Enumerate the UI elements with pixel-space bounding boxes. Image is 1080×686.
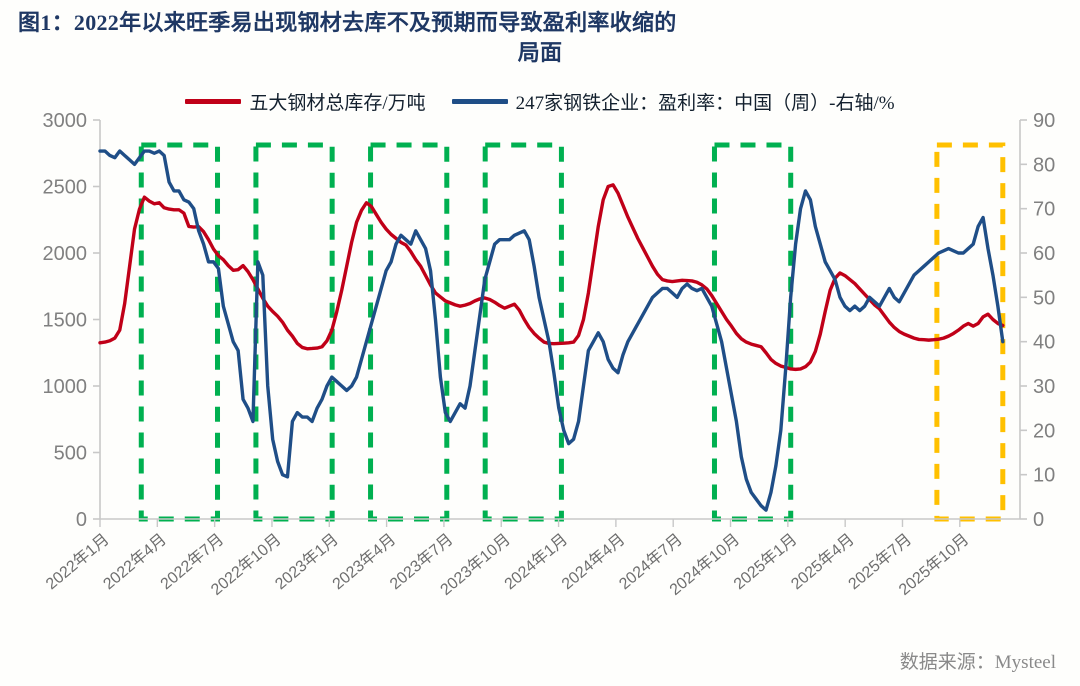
y-axis-left-tick-label: 2500 bbox=[43, 177, 88, 199]
y-axis-right-tick-label: 50 bbox=[1033, 287, 1055, 309]
x-axis-tick-label: 2025年1月 bbox=[730, 530, 800, 593]
series-group bbox=[100, 151, 1003, 510]
x-axis-tick-label: 2023年1月 bbox=[272, 530, 342, 593]
x-axis-tick-label: 2022年4月 bbox=[100, 530, 170, 593]
y-axis-left-tick-label: 500 bbox=[54, 443, 87, 465]
green-box-5 bbox=[714, 145, 790, 519]
chart-plot-area: 0500100015002000250030000102030405060708… bbox=[0, 0, 1080, 686]
y-axis-left-tick-label: 0 bbox=[76, 509, 87, 531]
x-axis-tick-label: 2024年1月 bbox=[501, 530, 571, 593]
x-tick-labels-group: 2022年1月2022年4月2022年7月2022年10月2023年1月2023… bbox=[42, 530, 972, 599]
x-axis-tick-label: 2025年4月 bbox=[788, 530, 858, 593]
x-axis-tick-label: 2023年4月 bbox=[329, 530, 399, 593]
y-axis-right-tick-label: 20 bbox=[1033, 420, 1055, 442]
axes-group: 0500100015002000250030000102030405060708… bbox=[43, 110, 1056, 531]
y-axis-right-tick-label: 90 bbox=[1033, 110, 1055, 132]
chart-figure: 图1：2022年以来旺季易出现钢材去库不及预期而导致盈利率收缩的 局面 五大钢材… bbox=[0, 0, 1080, 686]
y-axis-left-tick-label: 1000 bbox=[43, 376, 88, 398]
series-line-profit-rate bbox=[100, 151, 1003, 510]
x-axis-tick-label: 2024年4月 bbox=[558, 530, 628, 593]
y-axis-right-tick-label: 0 bbox=[1033, 509, 1044, 531]
y-axis-left-tick-label: 2000 bbox=[43, 243, 88, 265]
y-axis-left-tick-label: 1500 bbox=[43, 310, 88, 332]
y-axis-left-tick-label: 3000 bbox=[43, 110, 88, 132]
y-axis-right-tick-label: 30 bbox=[1033, 376, 1055, 398]
y-axis-right-tick-label: 60 bbox=[1033, 243, 1055, 265]
green-box-4 bbox=[485, 145, 561, 519]
orange-box-1 bbox=[937, 145, 1003, 519]
y-axis-right-tick-label: 70 bbox=[1033, 199, 1055, 221]
y-axis-right-tick-label: 10 bbox=[1033, 465, 1055, 487]
x-axis-tick-label: 2022年1月 bbox=[42, 530, 112, 593]
series-line-inventory bbox=[100, 185, 1003, 369]
y-axis-right-tick-label: 80 bbox=[1033, 154, 1055, 176]
y-axis-right-tick-label: 40 bbox=[1033, 332, 1055, 354]
source-note: 数据来源：Mysteel bbox=[900, 647, 1056, 674]
green-box-2 bbox=[256, 145, 332, 519]
highlight-boxes-group bbox=[141, 145, 1003, 519]
